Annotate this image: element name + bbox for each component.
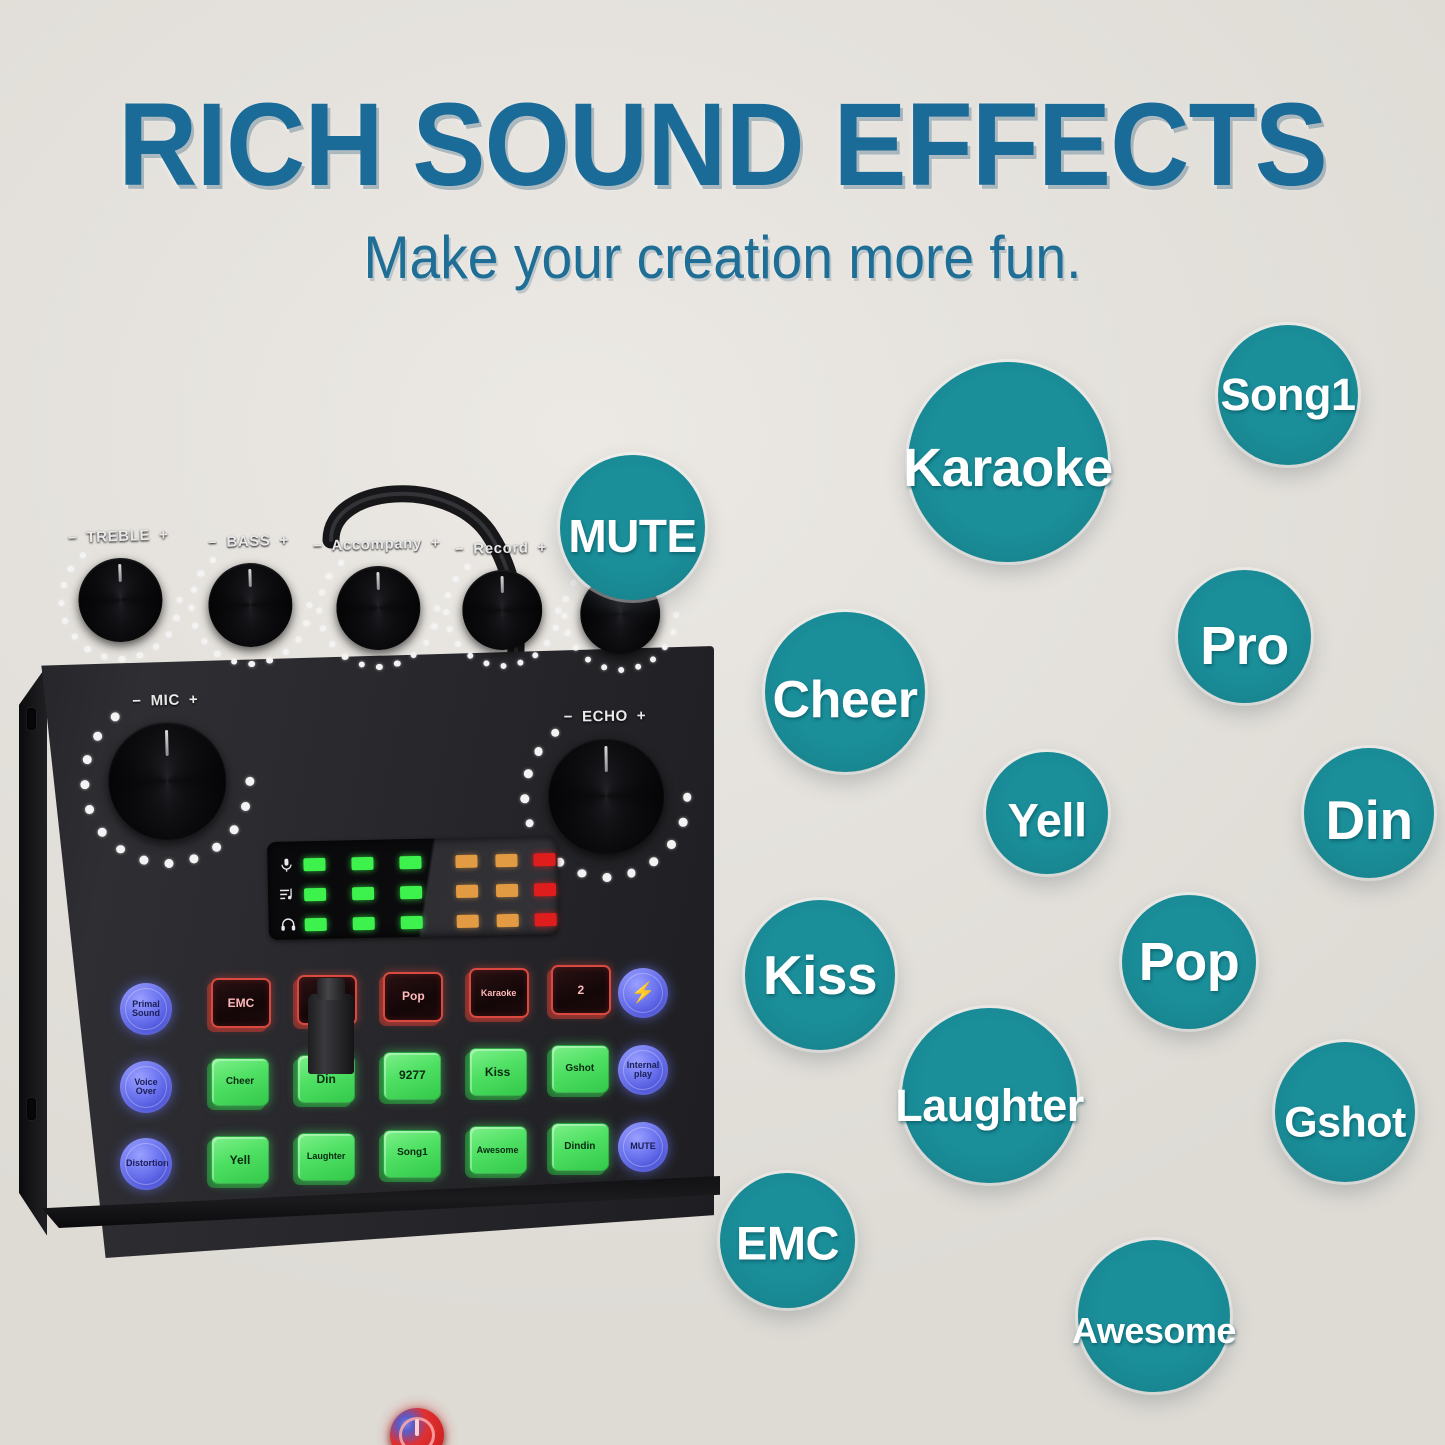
cable-plug xyxy=(308,994,354,1074)
effect-bubble-label: Pro xyxy=(1200,615,1289,677)
effect-bubble-pop[interactable]: Pop xyxy=(1122,895,1256,1029)
effect-bubble-label: Kiss xyxy=(763,943,877,1007)
effect-bubble-label: Cheer xyxy=(773,670,918,730)
effect-bubble-label: EMC xyxy=(736,1216,839,1271)
effect-bubble-mute[interactable]: MUTE xyxy=(560,455,705,600)
effect-bubble-pro[interactable]: Pro xyxy=(1178,570,1311,703)
effect-bubble-gshot[interactable]: Gshot xyxy=(1275,1042,1415,1182)
poster-canvas: RICH SOUND EFFECTS Make your creation mo… xyxy=(0,0,1445,1445)
effect-bubble-awesome[interactable]: Awesome xyxy=(1078,1240,1230,1392)
effect-bubble-label: Gshot xyxy=(1284,1099,1406,1148)
effect-bubble-label: MUTE xyxy=(568,509,696,563)
effect-bubble-yell[interactable]: Yell xyxy=(986,752,1108,874)
effect-bubble-emc[interactable]: EMC xyxy=(720,1173,855,1308)
effect-bubble-cheer[interactable]: Cheer xyxy=(765,612,925,772)
effect-bubble-kiss[interactable]: Kiss xyxy=(745,900,895,1050)
effect-bubble-label: Din xyxy=(1325,788,1412,852)
effect-bubble-laughter[interactable]: Laughter xyxy=(902,1008,1077,1183)
effect-bubble-label: Song1 xyxy=(1220,369,1355,421)
effect-bubble-label: Yell xyxy=(1007,793,1086,848)
effect-bubble-karaoke[interactable]: Karaoke xyxy=(908,362,1108,562)
effect-bubble-din[interactable]: Din xyxy=(1304,748,1434,878)
sound-effect-bubbles: MUTEKaraokeSong1CheerProYellDinKissPopLa… xyxy=(0,0,1445,1445)
effect-bubble-label: Pop xyxy=(1139,931,1240,993)
effect-bubble-label: Laughter xyxy=(895,1080,1084,1132)
effect-bubble-song1[interactable]: Song1 xyxy=(1218,325,1358,465)
effect-bubble-label: Karaoke xyxy=(903,437,1113,499)
effect-bubble-label: Awesome xyxy=(1072,1310,1236,1352)
